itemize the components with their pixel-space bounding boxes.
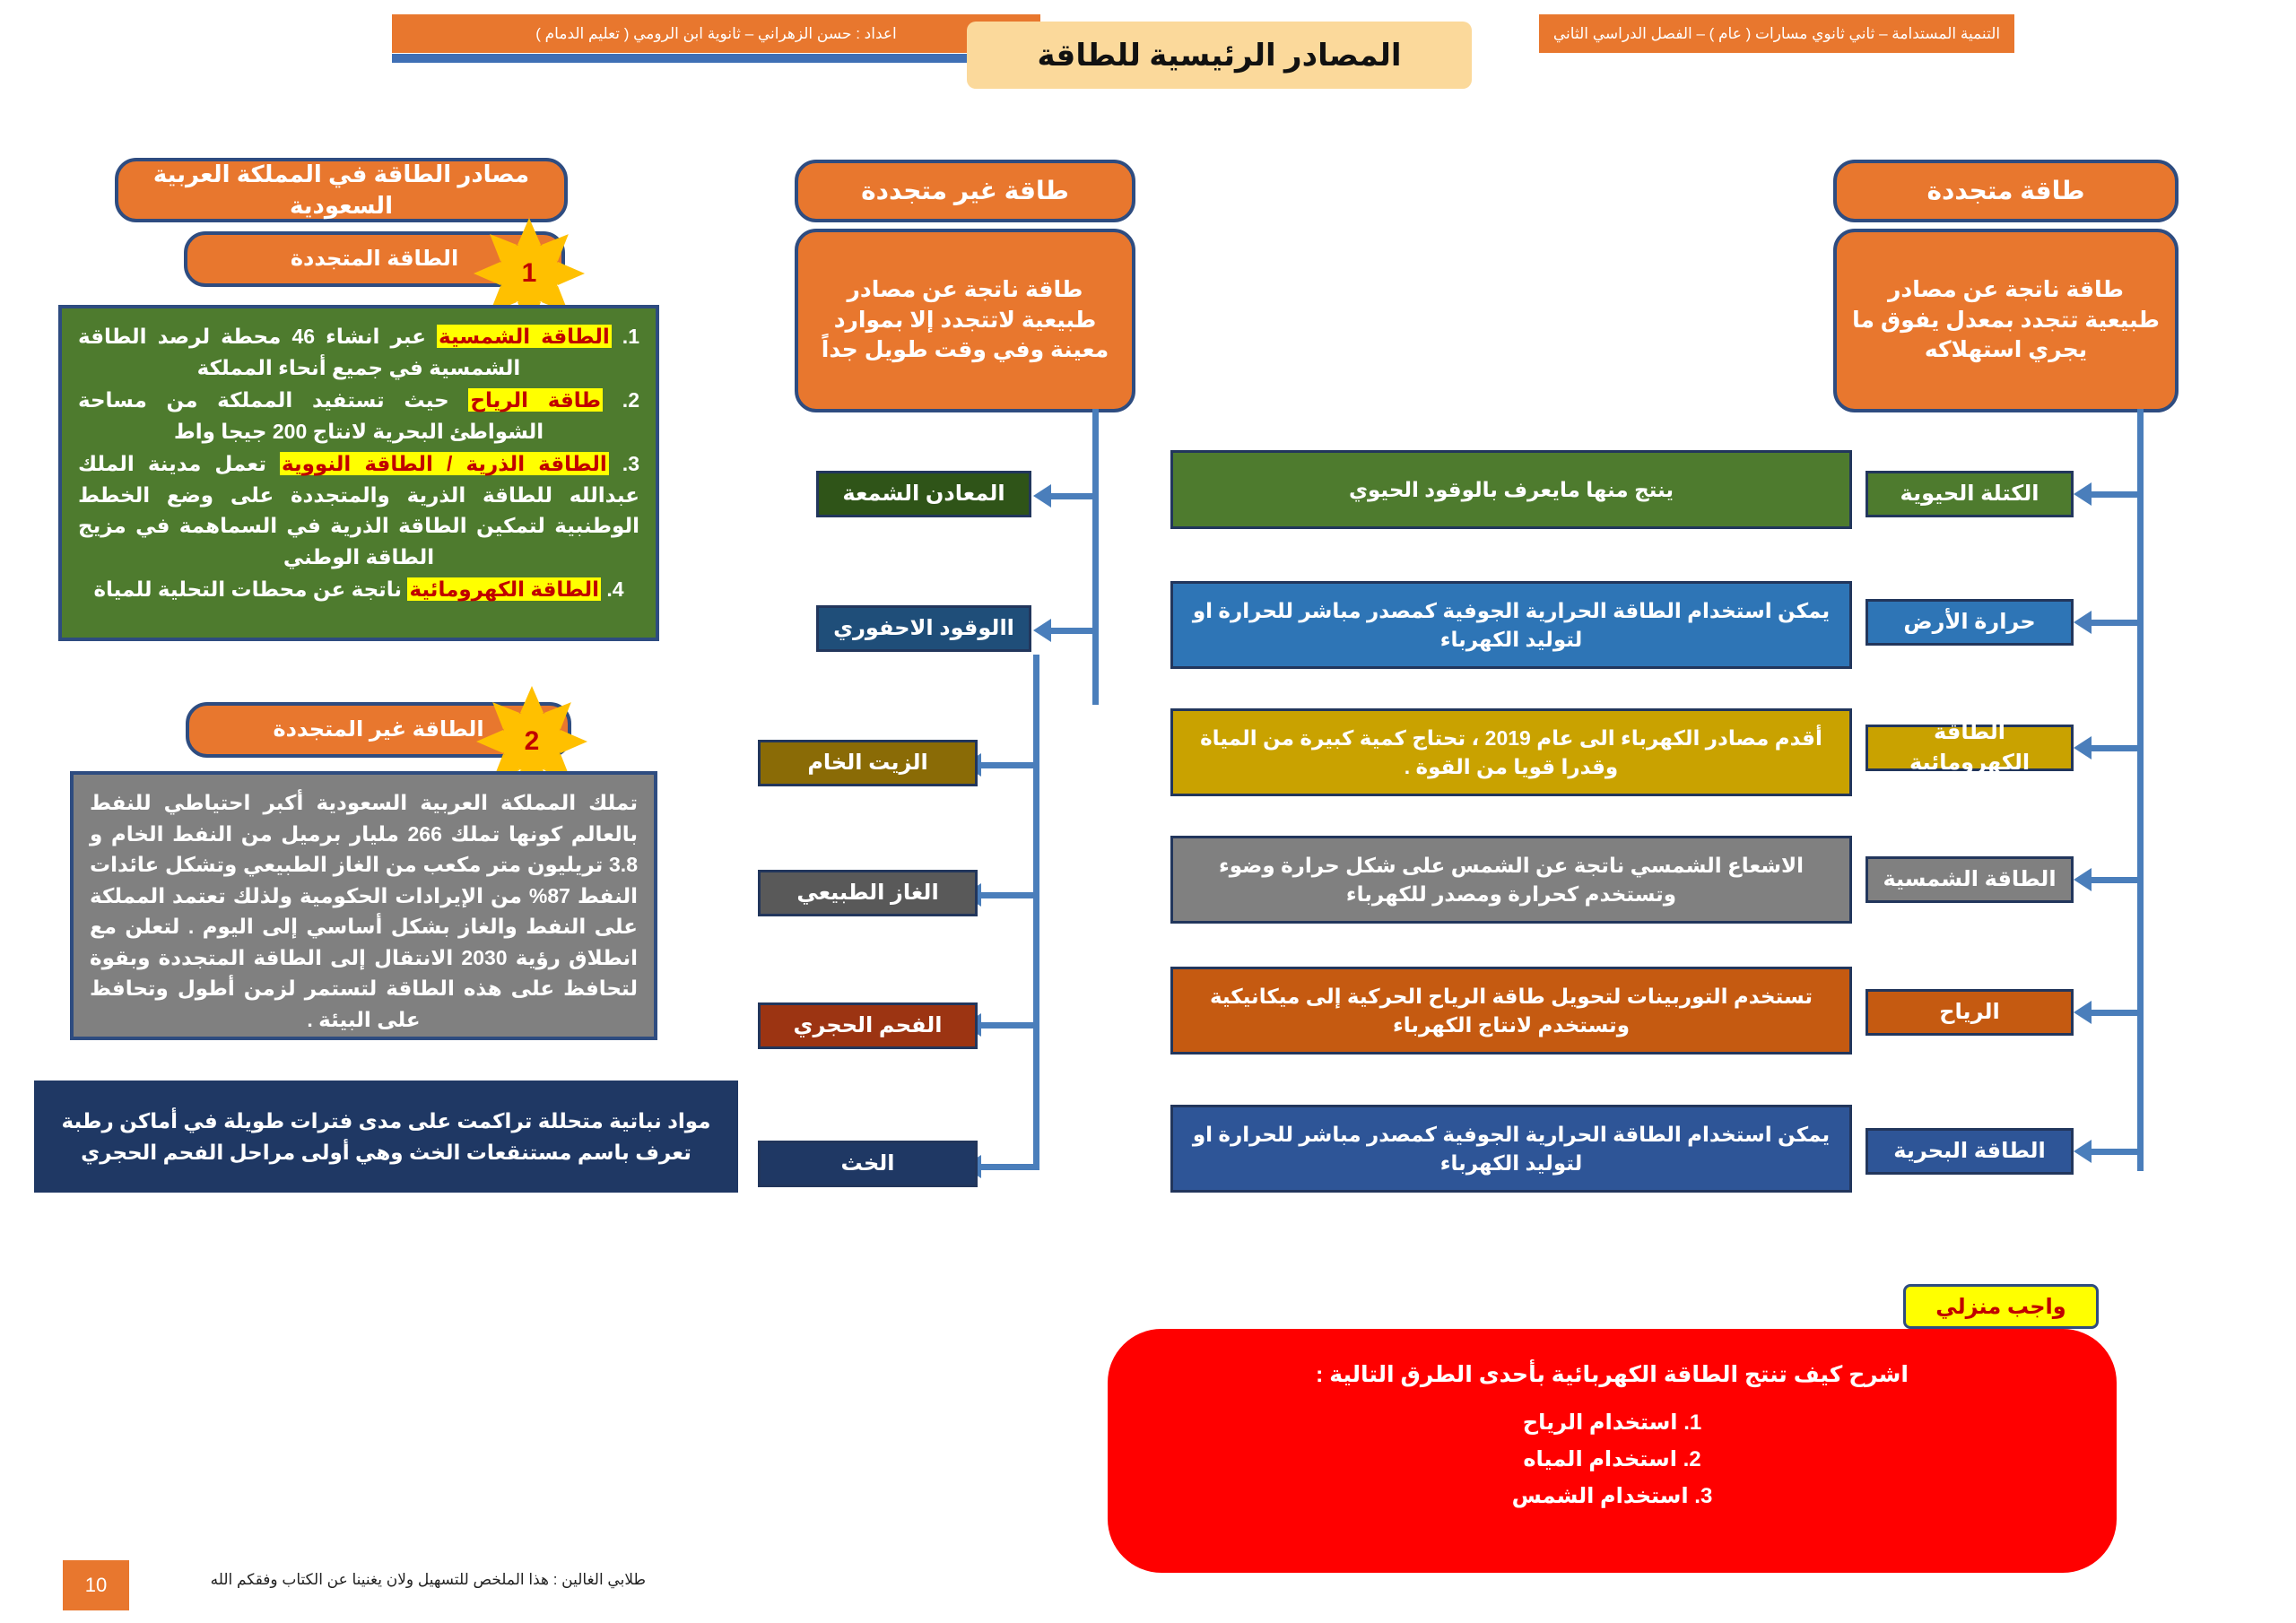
renewable-item-4[interactable]: الطاقة الشمسية bbox=[1865, 856, 2074, 903]
connector-fossil-to-peat bbox=[979, 1164, 1038, 1170]
connector-fossil-trunk bbox=[1033, 655, 1039, 1170]
renewable-item-label: الرياح bbox=[1939, 997, 2000, 1028]
nonrenewable-item-label: االوقود الاحفوري bbox=[833, 613, 1014, 644]
peat-note-panel: مواد نباتية متحللة تراكمت على مدى فترات … bbox=[34, 1081, 738, 1193]
renewable-item-text: ناتجة عن محطات التحلية للمياة bbox=[93, 577, 407, 601]
nonrenewable-item-label: المعادن الشمعة bbox=[842, 479, 1004, 509]
nonrenewable-item-3[interactable]: الزيت الخام bbox=[758, 740, 978, 786]
homework-box: اشرح كيف تنتج الطاقة الكهربائية بأحدى ال… bbox=[1108, 1329, 2117, 1573]
author-strip: اعداد : حسن الزهراني – ثانوية ابن الرومي… bbox=[392, 14, 1040, 53]
renewable-description-text: الاشعاع الشمسي ناتجة عن الشمس على شكل حر… bbox=[1182, 851, 1840, 908]
nonrenewable-energy-header: طاقة غير متجددة bbox=[795, 160, 1135, 222]
connector-right-to-item-3 bbox=[2090, 745, 2142, 751]
renewable-list-panel: الطاقة الشمسية عبر انشاء 46 محطة لرصد ال… bbox=[58, 305, 659, 641]
homework-tag-text: واجب منزلي bbox=[1935, 1294, 2066, 1320]
connector-fossil-to-crude bbox=[979, 762, 1038, 768]
connector-middle-to-fossil bbox=[1049, 628, 1099, 634]
renewable-description-text: أقدم مصادر الكهرباء الى عام 2019 ، تحتاج… bbox=[1182, 724, 1840, 781]
nonrenewable-energy-header-text: طاقة غير متجددة bbox=[861, 174, 1069, 208]
nonrenewable-definition-text: طاقة ناتجة عن مصادر طبيعية لاتتجدد إلا ب… bbox=[809, 275, 1121, 366]
renewable-description-text: يمكن استخدام الطاقة الحرارية الجوفية كمص… bbox=[1182, 1120, 1840, 1177]
connector-middle-to-metals bbox=[1049, 493, 1099, 499]
arrow-right-to-item-6-icon bbox=[2074, 1140, 2092, 1163]
slide-canvas: اعداد : حسن الزهراني – ثانوية ابن الرومي… bbox=[0, 0, 2296, 1623]
sun-badge-2-number: 2 bbox=[501, 711, 562, 772]
homework-option: استخدام الرياح bbox=[1144, 1410, 2081, 1436]
homework-option: استخدام الشمس bbox=[1144, 1483, 2081, 1509]
renewable-energy-header-text: طاقة متجددة bbox=[1927, 174, 2085, 208]
homework-options-list: استخدام الرياحاستخدام المياهاستخدام الشم… bbox=[1144, 1410, 2081, 1509]
nonrenewable-item-2[interactable]: االوقود الاحفوري bbox=[816, 605, 1031, 652]
footer-note-text: طلابي الغالين : هذا الملخص للتسهيل ولان … bbox=[211, 1571, 646, 1588]
renewable-list-item: الطاقة الذرية / الطاقة النووية تعمل مدين… bbox=[78, 448, 639, 572]
nonrenewable-item-6[interactable]: الخث bbox=[758, 1141, 978, 1187]
renewable-items-list: الطاقة الشمسية عبر انشاء 46 محطة لرصد ال… bbox=[78, 321, 639, 605]
connector-right-to-item-6 bbox=[2090, 1149, 2142, 1155]
connector-right-to-item-4 bbox=[2090, 877, 2142, 883]
connector-right-to-item-5 bbox=[2090, 1010, 2142, 1016]
page-title-text: المصادر الرئيسية للطاقة bbox=[1037, 38, 1401, 74]
nonrenewable-item-label: الخث bbox=[841, 1149, 895, 1179]
renewable-item-3[interactable]: الطاقة الكهرومائية bbox=[1865, 725, 2074, 771]
arrow-right-to-item-1-icon bbox=[2074, 482, 2092, 506]
renewable-item-5[interactable]: الرياح bbox=[1865, 989, 2074, 1036]
nonrenewable-item-label: الزيت الخام bbox=[807, 748, 927, 778]
renewable-description-2: يمكن استخدام الطاقة الحرارية الجوفية كمص… bbox=[1170, 581, 1852, 669]
connector-middle-trunk bbox=[1092, 409, 1099, 705]
renewable-item-2[interactable]: حرارة الأرض bbox=[1865, 599, 2074, 646]
connector-right-to-item-1 bbox=[2090, 491, 2142, 498]
renewable-item-highlight: طاقة الرياح bbox=[468, 388, 603, 412]
renewable-item-label: الكتلة الحيوية bbox=[1900, 479, 2039, 509]
nonrenewable-item-4[interactable]: الغاز الطبيعي bbox=[758, 870, 978, 916]
arrow-right-to-item-5-icon bbox=[2074, 1001, 2092, 1024]
arrow-right-to-item-2-icon bbox=[2074, 611, 2092, 634]
nonrenewable-item-label: الغاز الطبيعي bbox=[796, 878, 938, 908]
renewable-item-highlight: الطاقة الكهرومائية bbox=[407, 577, 601, 601]
renewable-item-highlight: الطاقة الشمسية bbox=[437, 325, 612, 348]
ribbon-accent-bar bbox=[392, 54, 1040, 63]
renewable-item-label: الطاقة الشمسية bbox=[1883, 864, 2056, 895]
page-number-badge: 10 bbox=[63, 1560, 129, 1610]
nonrenewable-text: تملك المملكة العربية السعودية أكبر احتيا… bbox=[90, 791, 638, 1031]
renewable-description-5: تستخدم التوربينات لتحويل طاقة الرياح الح… bbox=[1170, 967, 1852, 1055]
renewable-description-text: ينتج منها مايعرف بالوقود الحيوي bbox=[1349, 475, 1674, 504]
arrow-right-to-item-3-icon bbox=[2074, 736, 2092, 759]
nonrenewable-item-5[interactable]: الفحم الحجري bbox=[758, 1002, 978, 1049]
nonrenewable-subheader-text: الطاقة غير المتجددة bbox=[273, 716, 483, 744]
left-section-title: مصادر الطاقة في المملكة العربية السعودية bbox=[115, 158, 568, 222]
nonrenewable-text-panel: تملك المملكة العربية السعودية أكبر احتيا… bbox=[70, 771, 657, 1040]
left-section-title-text: مصادر الطاقة في المملكة العربية السعودية bbox=[129, 159, 553, 221]
renewable-description-3: أقدم مصادر الكهرباء الى عام 2019 ، تحتاج… bbox=[1170, 708, 1852, 796]
renewable-item-1[interactable]: الكتلة الحيوية bbox=[1865, 471, 2074, 517]
nonrenewable-definition-box: طاقة ناتجة عن مصادر طبيعية لاتتجدد إلا ب… bbox=[795, 229, 1135, 412]
nonrenewable-item-1[interactable]: المعادن الشمعة bbox=[816, 471, 1031, 517]
page-number-text: 10 bbox=[85, 1574, 107, 1597]
renewable-list-item: طاقة الرياح حيث تستفيد المملكة من مساحة … bbox=[78, 385, 639, 447]
renewable-list-item: الطاقة الشمسية عبر انشاء 46 محطة لرصد ال… bbox=[78, 321, 639, 383]
renewable-item-label: حرارة الأرض bbox=[1903, 607, 2035, 638]
renewable-item-6[interactable]: الطاقة البحرية bbox=[1865, 1128, 2074, 1175]
renewable-subheader-text: الطاقة المتجددة bbox=[291, 245, 458, 273]
author-strip-text: اعداد : حسن الزهراني – ثانوية ابن الرومي… bbox=[392, 14, 1040, 53]
connector-right-to-item-2 bbox=[2090, 620, 2142, 626]
sun-badge-1-number: 1 bbox=[499, 243, 560, 304]
renewable-definition-text: طاقة ناتجة عن مصادر طبيعية تتجدد بمعدل ي… bbox=[1848, 275, 2164, 366]
peat-note-text: مواد نباتية متحللة تراكمت على مدى فترات … bbox=[50, 1106, 722, 1167]
renewable-description-6: يمكن استخدام الطاقة الحرارية الجوفية كمص… bbox=[1170, 1105, 1852, 1193]
renewable-description-text: تستخدم التوربينات لتحويل طاقة الرياح الح… bbox=[1182, 982, 1840, 1039]
homework-option: استخدام المياه bbox=[1144, 1446, 2081, 1472]
course-strip-text: التنمية المستدامة – ثاني ثانوي مسارات ( … bbox=[1539, 14, 2014, 53]
arrow-middle-to-fossil-icon bbox=[1033, 619, 1051, 642]
connector-right-trunk bbox=[2137, 409, 2144, 1171]
homework-question: اشرح كيف تنتج الطاقة الكهربائية بأحدى ال… bbox=[1144, 1361, 2081, 1388]
renewable-description-4: الاشعاع الشمسي ناتجة عن الشمس على شكل حر… bbox=[1170, 836, 1852, 924]
connector-fossil-to-gas bbox=[979, 892, 1038, 898]
renewable-list-item: الطاقة الكهرومائية ناتجة عن محطات التحلي… bbox=[78, 574, 639, 605]
connector-fossil-to-coal bbox=[979, 1022, 1038, 1028]
homework-tag: واجب منزلي bbox=[1903, 1284, 2099, 1329]
nonrenewable-item-label: الفحم الحجري bbox=[793, 1011, 942, 1041]
footer-note: طلابي الغالين : هذا الملخص للتسهيل ولان … bbox=[143, 1571, 646, 1589]
arrow-middle-to-metals-icon bbox=[1033, 484, 1051, 508]
renewable-item-highlight: الطاقة الذرية / الطاقة النووية bbox=[280, 452, 609, 475]
page-title: المصادر الرئيسية للطاقة bbox=[967, 22, 1472, 89]
renewable-description-1: ينتج منها مايعرف بالوقود الحيوي bbox=[1170, 450, 1852, 529]
arrow-right-to-item-4-icon bbox=[2074, 868, 2092, 891]
renewable-item-label: الطاقة البحرية bbox=[1893, 1136, 2045, 1167]
course-strip: التنمية المستدامة – ثاني ثانوي مسارات ( … bbox=[1539, 14, 2014, 53]
renewable-description-text: يمكن استخدام الطاقة الحرارية الجوفية كمص… bbox=[1182, 596, 1840, 654]
renewable-definition-box: طاقة ناتجة عن مصادر طبيعية تتجدد بمعدل ي… bbox=[1833, 229, 2179, 412]
renewable-item-label: الطاقة الكهرومائية bbox=[1877, 717, 2062, 777]
renewable-energy-header: طاقة متجددة bbox=[1833, 160, 2179, 222]
